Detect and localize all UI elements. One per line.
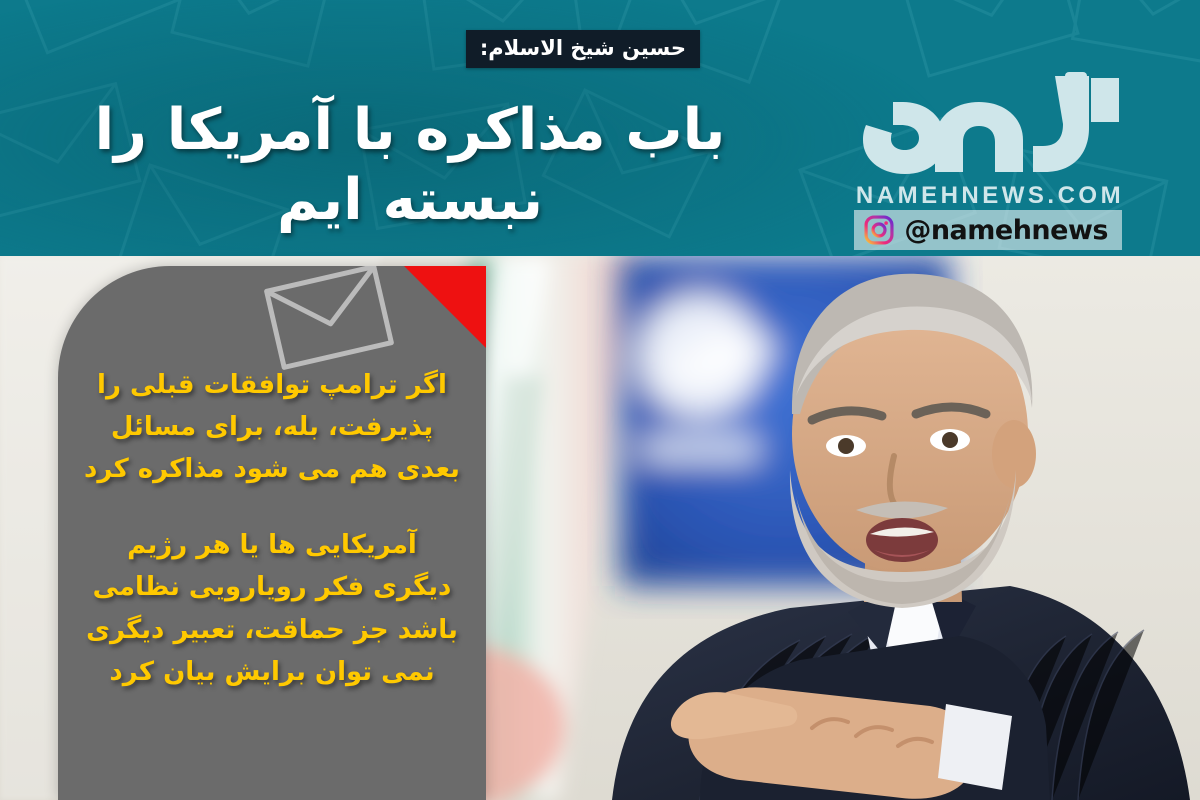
quote-paragraph-1: اگر ترامپ توافقات قبلی را پذیرفت، بله، ب… [84,364,460,490]
envelope-icon [262,266,396,372]
kicker-speaker-name: حسین شیخ الاسلام: [466,30,700,68]
instagram-icon [864,215,894,245]
infographic-quote-card: حسین شیخ الاسلام: باب مذاکره با آمریکا ر… [0,0,1200,800]
quote-paragraph-2: آمریکایی ها یا هر رژیم دیگری فکر رویاروی… [84,524,460,692]
nameh-logo-icon [859,72,1121,176]
page-title: باب مذاکره با آمریکا را نبسته ایم [60,96,760,235]
brand-domain-text: NAMEHNEWS.COM [850,182,1130,210]
quote-text-body: اگر ترامپ توافقات قبلی را پذیرفت، بله، ب… [58,364,486,693]
brand-logo[interactable]: NAMEHNEWS.COM [850,72,1130,210]
folded-corner-accent [404,266,486,348]
header-banner: حسین شیخ الاسلام: باب مذاکره با آمریکا ر… [0,0,1200,256]
quote-card: اگر ترامپ توافقات قبلی را پذیرفت، بله، ب… [58,266,486,800]
instagram-badge[interactable]: @namehnews [854,210,1122,250]
instagram-handle-text: @namehnews [904,217,1108,244]
